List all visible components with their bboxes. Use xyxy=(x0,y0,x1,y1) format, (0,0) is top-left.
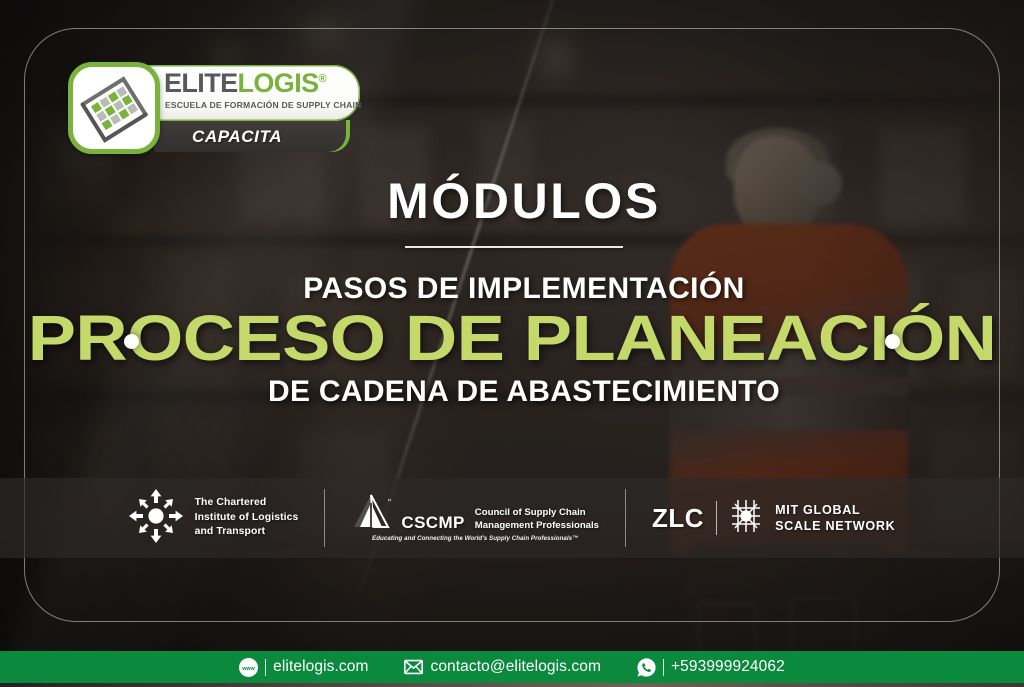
registered-mark-icon: ® xyxy=(319,73,327,85)
diamond-checker-logo-icon xyxy=(68,62,160,154)
footer-phone[interactable]: +593999924062 xyxy=(637,658,785,677)
envelope-icon xyxy=(404,658,423,677)
subtitle-line-one: PASOS DE IMPLEMENTACIÓN xyxy=(24,274,1024,304)
title-divider xyxy=(405,246,623,248)
decorative-dot-right xyxy=(885,334,900,349)
brand-capacita-tab: CAPACITA xyxy=(154,120,350,152)
svg-text:www: www xyxy=(241,666,255,672)
brand-word-logis: LOGIS xyxy=(238,68,319,98)
partner-zlc-mit[interactable]: ZLC MIT GLOBAL SCALE NETWORK xyxy=(626,498,921,539)
footer-website-label: elitelogis.com xyxy=(273,658,368,676)
brand-tagline: ESCUELA DE FORMACIÓN DE SUPPLY CHAIN xyxy=(165,100,361,110)
partner-ciltd-label: The Chartered Institute of Logistics and… xyxy=(195,496,299,539)
subtitle-line-two: DE CADENA DE ABASTECIMIENTO xyxy=(24,377,1024,407)
brand-lockup[interactable]: CAPACITA ELITELOGIS® ESCUELA DE FORMACIÓ… xyxy=(68,62,360,158)
cscmp-name: CSCMP xyxy=(401,513,464,533)
zlc-wordmark: ZLC xyxy=(652,505,704,531)
footer-bottom-strip xyxy=(0,683,1024,687)
www-globe-icon: www xyxy=(239,658,258,677)
eight-arrow-compass-icon xyxy=(129,489,183,548)
decorative-dot-left xyxy=(124,334,139,349)
main-topic-title: PROCESO DE PLANEACIÓN xyxy=(0,306,1024,371)
mit-global-scale-network-label: MIT GLOBAL SCALE NETWORK xyxy=(775,502,895,534)
brand-capacita-label: CAPACITA xyxy=(192,127,282,147)
brand-wordmark: ELITELOGIS® xyxy=(164,70,326,97)
cscmp-description: Council of Supply Chain Management Profe… xyxy=(475,507,599,533)
promo-poster: CAPACITA ELITELOGIS® ESCUELA DE FORMACIÓ… xyxy=(0,0,1024,687)
cscmp-triangle-icon: ™ xyxy=(351,494,391,533)
partner-logos-band: The Chartered Institute of Logistics and… xyxy=(0,478,1024,558)
headline-block: MÓDULOS PASOS DE IMPLEMENTACIÓN PROCESO … xyxy=(0,176,1024,407)
contact-footer-bar: www elitelogis.com contacto@elitelogis.c… xyxy=(0,651,1024,683)
footer-email[interactable]: contacto@elitelogis.com xyxy=(404,658,601,677)
mit-global-scale-network-icon xyxy=(729,498,763,539)
svg-text:™: ™ xyxy=(387,498,391,505)
whatsapp-icon xyxy=(637,658,656,677)
footer-separator xyxy=(663,659,664,676)
footer-email-label: contacto@elitelogis.com xyxy=(430,658,601,676)
footer-separator xyxy=(265,659,266,676)
page-title: MÓDULOS xyxy=(24,176,1024,226)
brand-word-elite: ELITE xyxy=(164,68,238,98)
partner-cscmp[interactable]: ™ CSCMP Council of Supply Chain Manageme… xyxy=(325,494,625,542)
partner-ciltd[interactable]: The Chartered Institute of Logistics and… xyxy=(103,489,325,548)
cscmp-tagline: Educating and Connecting the World's Sup… xyxy=(372,535,578,542)
footer-website[interactable]: www elitelogis.com xyxy=(239,658,368,677)
footer-phone-label: +593999924062 xyxy=(671,658,785,676)
zlc-mit-divider xyxy=(716,501,717,535)
